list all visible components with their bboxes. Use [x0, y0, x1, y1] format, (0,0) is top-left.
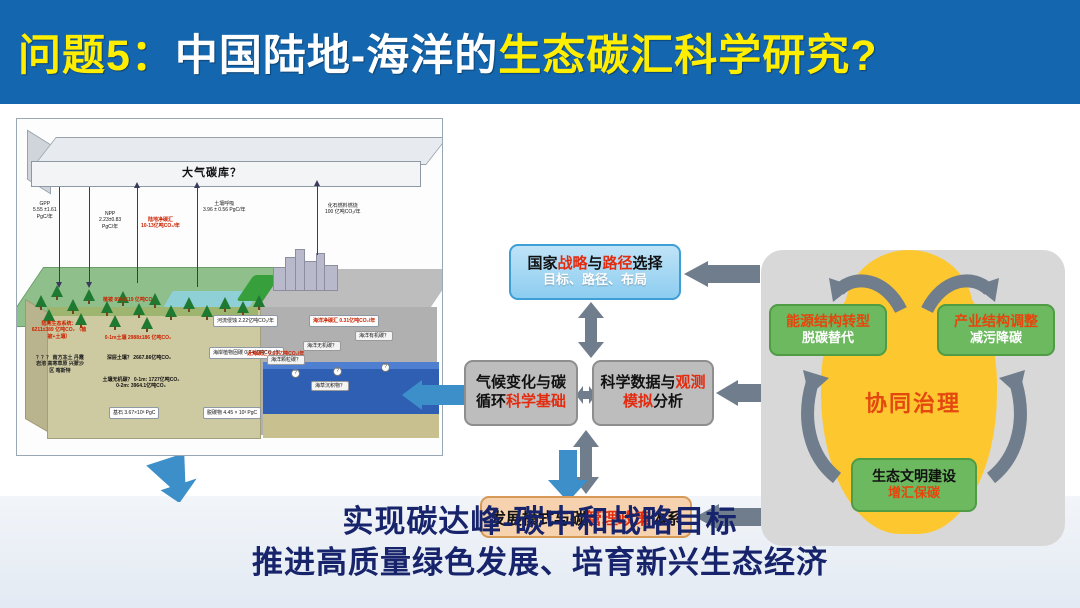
climate-box-line2: 循环科学基础	[476, 393, 566, 412]
city-icon	[269, 247, 341, 289]
title-part-subject: 中国陆地-海洋的	[175, 32, 498, 80]
goal-line-1: 实现碳达峰-碳中和战略目标	[0, 502, 1080, 543]
pool-label-vegetation: 植被 896±119 亿吨CO₂	[103, 297, 155, 303]
industry-structure-subtitle: 减污降碳	[970, 330, 1022, 347]
flux-label-gpp: GPP 5.55 ±1.61 PgC/年	[33, 201, 57, 220]
blue-arrow-policy-to-goal	[548, 450, 588, 502]
science-box-line2: 模拟分析	[623, 393, 683, 412]
pool-label-ocean-net-sink: 海洋净碳汇 0.31亿吨CO₂/年	[309, 315, 379, 327]
synergy-center-title: 协同治理	[761, 386, 1065, 418]
pool-label-ocean-particulate: 海洋颗粒碳？	[267, 355, 305, 365]
national-strategy-line1: 国家战略与路径选择	[527, 255, 662, 272]
climate-box-line1: 气候变化与碳	[476, 374, 566, 393]
fossil-fuel-flux-arrow	[317, 185, 318, 255]
arrow-panel-to-national-strategy	[684, 261, 760, 287]
gpp-flux-arrow	[59, 187, 60, 283]
land-sink-flux-arrow	[137, 187, 138, 283]
page-title: 问题5：中国陆地-海洋的生态碳汇科学研究?	[0, 21, 878, 83]
pool-label-weathering: 脱碳物 4.45 × 10³ PgC	[203, 407, 261, 419]
pool-label-soil-inorganic: 土壤无机碳？ 0-1m: 1727亿吨CO₂ 0-2m: 3964.1亿吨CO₂	[101, 377, 181, 390]
blue-arrow-illustration-to-goal	[146, 456, 212, 502]
climate-carbon-science-box[interactable]: 气候变化与碳 循环科学基础	[464, 360, 578, 426]
atmosphere-pool-label: 大气碳库？	[182, 164, 242, 180]
eco-civilization-title: 生态文明建设	[872, 468, 956, 485]
pool-label-river-transport: 河流侵蚀 2.22亿吨CO₂/年	[213, 315, 278, 327]
blue-arrow-to-illustration	[402, 380, 464, 410]
title-part-question: 问题5：	[18, 32, 175, 80]
npp-flux-arrow	[89, 187, 90, 283]
slide-title-bar: 问题5：中国陆地-海洋的生态碳汇科学研究?	[0, 0, 1080, 104]
pool-label-ocean-inorganic: 海洋无机碳？	[303, 341, 341, 351]
carbon-cycle-illustration: 大气碳库？	[16, 118, 443, 456]
energy-structure-subtitle: 脱碳替代	[802, 330, 854, 347]
energy-structure-title: 能源结构转型	[786, 313, 870, 330]
eco-civilization-subtitle: 增汇保碳	[888, 485, 940, 502]
flux-label-land-net-sink: 陆地净碳汇 10-13亿吨CO₂/年	[141, 217, 180, 230]
flux-label-npp: NPP 2.23±0.83 PgC/年	[99, 211, 121, 230]
pool-label-seagrass-sediment: 海草沉积物？	[311, 381, 349, 391]
flux-label-fossil-fuel: 化石燃料燃烧 100 亿吨CO₂/年	[325, 203, 361, 216]
national-strategy-line2: 目标、路径、布局	[543, 272, 647, 289]
national-strategy-box[interactable]: 国家战略与路径选择 目标、路径、布局	[509, 244, 681, 300]
science-box-line1: 科学数据与观测	[600, 374, 705, 393]
ocean-question-marker: ?	[333, 367, 342, 376]
pool-label-unknowns: ？？？ 南方冻土 丹霞岩溶 高寒草原 兴蒙沙区 喀斯特	[35, 355, 85, 374]
industry-structure-title: 产业结构调整	[954, 313, 1038, 330]
industry-structure-box[interactable]: 产业结构调整 减污降碳	[937, 304, 1055, 356]
energy-structure-box[interactable]: 能源结构转型 脱碳替代	[769, 304, 887, 356]
pool-label-land-ecosystem: 陆地生态系统： 6211±389 亿吨CO₂ （植被+土壤）	[31, 321, 87, 340]
pool-label-ocean-organic: 海洋有机碳？	[355, 331, 393, 341]
pool-label-topsoil: 0-1m土壤 2988±186 亿吨CO₂	[101, 335, 175, 341]
goal-line-2: 推进高质量绿色发展、培育新兴生态经济	[0, 543, 1080, 584]
flux-label-soil-respiration: 土壤呼吸 3.96 ± 0.56 PgC/年	[203, 201, 246, 214]
ocean-question-marker: ?	[381, 363, 390, 372]
title-part-topic: 生态碳汇科学研究?	[498, 32, 877, 80]
science-data-observation-box[interactable]: 科学数据与观测 模拟分析	[592, 360, 714, 426]
seabed	[263, 414, 439, 438]
soil-respiration-flux-arrow	[197, 187, 198, 287]
slide-body: 大气碳库？	[0, 104, 1080, 608]
pool-label-bedrock: 基石 3.67×10³ PgC	[109, 407, 159, 419]
arrow-panel-to-science	[716, 380, 762, 406]
pool-label-deep-soil: 深层土壤？ 2667.86亿吨CO₂	[103, 355, 175, 361]
ocean-question-marker: ?	[291, 369, 300, 378]
goal-statement: 实现碳达峰-碳中和战略目标 推进高质量绿色发展、培育新兴生态经济	[0, 502, 1080, 584]
arrow-science-to-strategy	[578, 302, 604, 358]
